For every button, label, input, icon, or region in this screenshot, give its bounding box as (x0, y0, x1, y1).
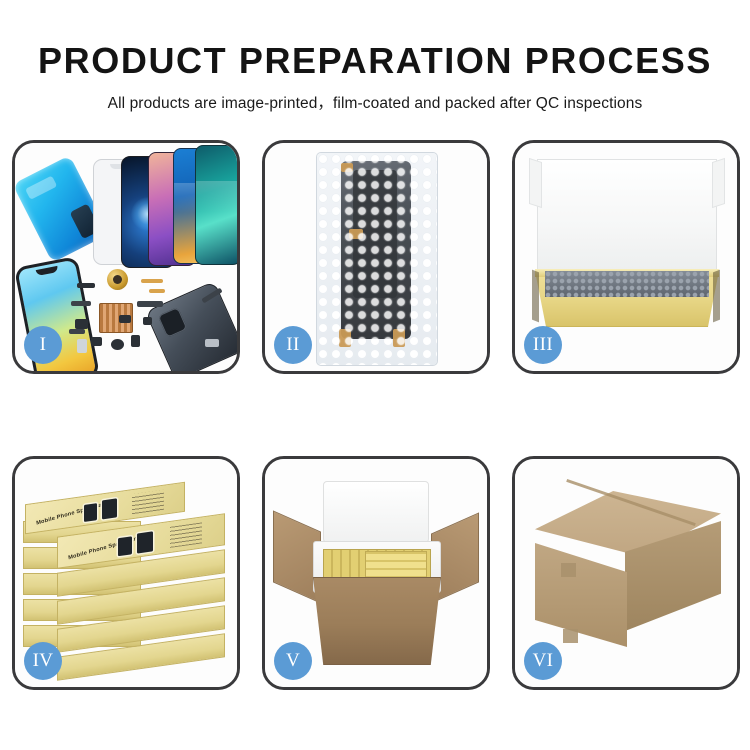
step-6-image: VI (515, 459, 737, 687)
step-badge-2: II (274, 326, 312, 364)
step-1-image: I (15, 143, 237, 371)
tape-piece (393, 329, 405, 347)
wrapped-screen-assembly (341, 161, 411, 339)
chip-component (75, 319, 88, 329)
step-badge-3: III (524, 326, 562, 364)
box-shadow-left (532, 270, 539, 323)
tape-piece (339, 329, 351, 347)
tape-piece (341, 163, 353, 172)
chip-component (77, 283, 95, 288)
page-title: PRODUCT PREPARATION PROCESS (0, 40, 750, 82)
step-badge-4: IV (24, 642, 62, 680)
step-5-image: V (265, 459, 487, 687)
tape-piece (349, 229, 363, 239)
chip-component (119, 315, 131, 323)
flex-cable (137, 301, 163, 307)
carton-body (313, 577, 441, 665)
box-label-phone-image (102, 498, 117, 519)
step-panel-6: VI (512, 456, 740, 690)
white-box-lid (537, 159, 717, 281)
speaker-component (111, 339, 124, 350)
grey-foam-insert (545, 271, 709, 297)
header: PRODUCT PREPARATION PROCESS All products… (0, 40, 750, 113)
phone-teal (195, 145, 240, 265)
flex-cable (141, 279, 163, 283)
flex-cable (149, 289, 165, 293)
step-badge-6: VI (524, 642, 562, 680)
carton-front-face (535, 543, 627, 647)
box-label-spec-lines (170, 522, 202, 547)
page-subtitle: All products are image-printed，film-coat… (0, 91, 750, 113)
box-label-phone-image (84, 503, 97, 522)
coil-component (107, 269, 128, 290)
step-4-image: Mobile Phone Spare Parts Mobile Phone Sp… (15, 459, 237, 687)
step-2-image: II (265, 143, 487, 371)
box-label-phone-image (137, 531, 153, 553)
phone-back-housing (145, 281, 240, 374)
screw-set (205, 339, 219, 347)
carton-tab (561, 563, 576, 577)
box-label-phone-image (118, 536, 132, 556)
step-panel-1: I (12, 140, 240, 374)
chip-component (91, 337, 102, 346)
flex-cable (69, 329, 85, 334)
chip-component (131, 335, 140, 347)
step-badge-5: V (274, 642, 312, 680)
step-3-image: III (515, 143, 737, 371)
step-panel-2: II (262, 140, 490, 374)
step-panel-5: V (262, 456, 490, 690)
box-shadow-right (713, 270, 720, 323)
chip-component (143, 317, 152, 325)
sim-tray-component (77, 339, 87, 353)
step-panel-3: III (512, 140, 740, 374)
foam-cooler-lid (323, 481, 429, 543)
step-badge-1: I (24, 326, 62, 364)
process-steps-grid: I II II (12, 140, 740, 690)
carton-tab (563, 629, 578, 643)
flex-cable (71, 301, 91, 306)
step-panel-4: Mobile Phone Spare Parts Mobile Phone Sp… (12, 456, 240, 690)
product-preparation-infographic: PRODUCT PREPARATION PROCESS All products… (0, 0, 750, 750)
